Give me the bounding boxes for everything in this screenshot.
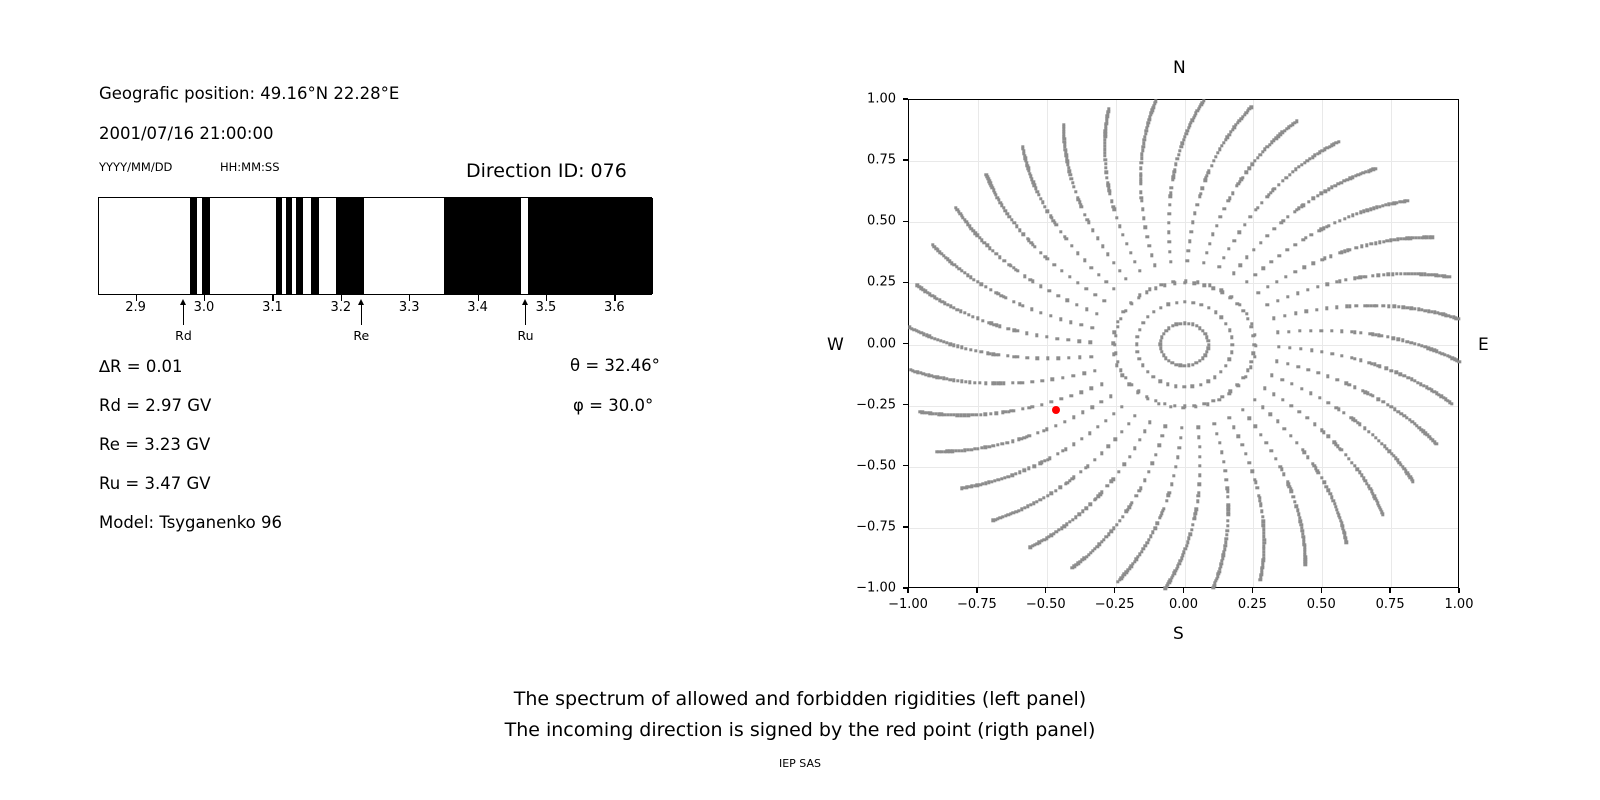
x-axis-tick [907,588,908,593]
y-axis-tick-label: −1.00 [838,581,896,596]
plot-axes-decoration: −1.00−0.75−0.50−0.250.000.250.500.751.00… [0,0,1600,660]
x-axis-tick [976,588,977,593]
y-axis-tick-label: 0.00 [838,336,896,351]
y-axis-tick-label: 1.00 [838,92,896,107]
y-axis-tick [903,343,908,344]
x-axis-tick-label: 0.75 [1376,597,1405,612]
x-axis-tick-label: −0.50 [1026,597,1066,612]
incoming-direction-panel: −1.00−0.75−0.50−0.250.000.250.500.751.00… [0,0,1600,660]
x-axis-tick-label: 0.00 [1169,597,1198,612]
x-axis-tick-label: −0.25 [1095,597,1135,612]
y-axis-tick [903,465,908,466]
selected-direction-point [1052,406,1060,414]
y-axis-tick [903,282,908,283]
y-axis-tick [903,159,908,160]
x-axis-tick-label: 0.50 [1307,597,1336,612]
compass-south-label: S [1173,624,1184,644]
x-axis-tick-label: −1.00 [888,597,928,612]
y-axis-tick [903,404,908,405]
y-axis-tick-label: −0.50 [838,458,896,473]
y-axis-tick-label: −0.25 [838,397,896,412]
compass-east-label: E [1478,335,1489,355]
y-axis-tick-label: 0.75 [838,153,896,168]
y-axis-tick-label: 0.50 [838,214,896,229]
x-axis-tick-label: 1.00 [1445,597,1474,612]
x-axis-tick [1114,588,1115,593]
footer-text: IEP SAS [0,757,1600,770]
y-axis-tick [903,221,908,222]
x-axis-tick [1252,588,1253,593]
x-axis-tick-label: 0.25 [1238,597,1267,612]
x-axis-tick-label: −0.75 [957,597,997,612]
x-axis-tick [1389,588,1390,593]
x-axis-tick [1458,588,1459,593]
y-axis-tick [903,526,908,527]
compass-north-label: N [1173,58,1186,78]
x-axis-tick [1321,588,1322,593]
y-axis-tick-label: 0.25 [838,275,896,290]
caption-line-1: The spectrum of allowed and forbidden ri… [0,688,1600,710]
y-axis-tick-label: −0.75 [838,519,896,534]
x-axis-tick [1045,588,1046,593]
x-axis-tick [1183,588,1184,593]
caption-line-2: The incoming direction is signed by the … [0,719,1600,741]
compass-west-label: W [827,335,844,355]
y-axis-tick [903,98,908,99]
